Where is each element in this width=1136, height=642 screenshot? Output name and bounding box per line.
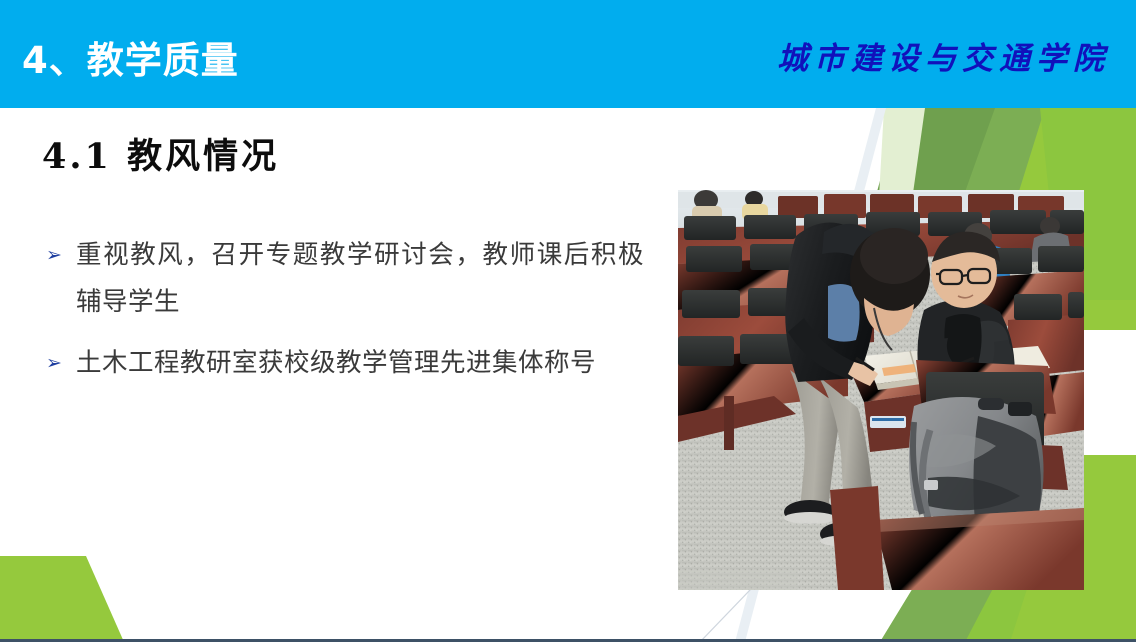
arrow-bullet-icon: ➢: [44, 232, 76, 279]
bullet-list: ➢ 重视教风，召开专题教学研讨会，教师课后积极辅导学生 ➢ 土木工程教研室获校级…: [44, 232, 644, 401]
list-item: ➢ 重视教风，召开专题教学研讨会，教师课后积极辅导学生: [44, 232, 644, 326]
classroom-photo: [678, 190, 1084, 590]
list-item-text: 土木工程教研室获校级教学管理先进集体称号: [76, 340, 644, 387]
page-title: 4、教学质量: [22, 30, 239, 84]
slide-header-bar: 4、教学质量 城市建设与交通学院: [0, 0, 1136, 108]
arrow-bullet-icon: ➢: [44, 340, 76, 387]
presentation-slide: 4、教学质量 城市建设与交通学院 4.1 教风情况 ➢ 重视教风，召开专题教学研…: [0, 0, 1136, 642]
list-item-text: 重视教风，召开专题教学研讨会，教师课后积极辅导学生: [76, 232, 644, 326]
organization-name: 城市建设与交通学院: [777, 33, 1110, 78]
list-item: ➢ 土木工程教研室获校级教学管理先进集体称号: [44, 340, 644, 387]
section-title: 4.1 教风情况: [42, 128, 279, 179]
